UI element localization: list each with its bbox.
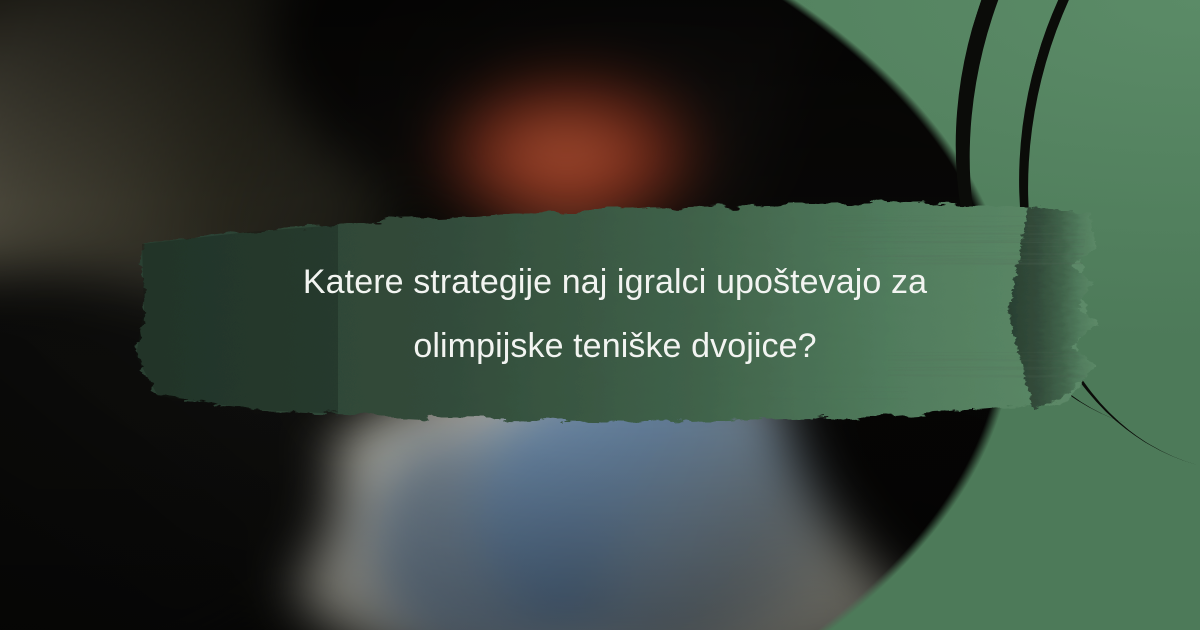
page-title: Katere strategije naj igralci upoštevajo… [150, 214, 1080, 414]
headline-line-2: olimpijske teniške dvojice? [413, 317, 816, 375]
social-share-card: Katere strategije naj igralci upoštevajo… [0, 0, 1200, 630]
headline-line-1: Katere strategije naj igralci upoštevajo… [303, 253, 927, 311]
